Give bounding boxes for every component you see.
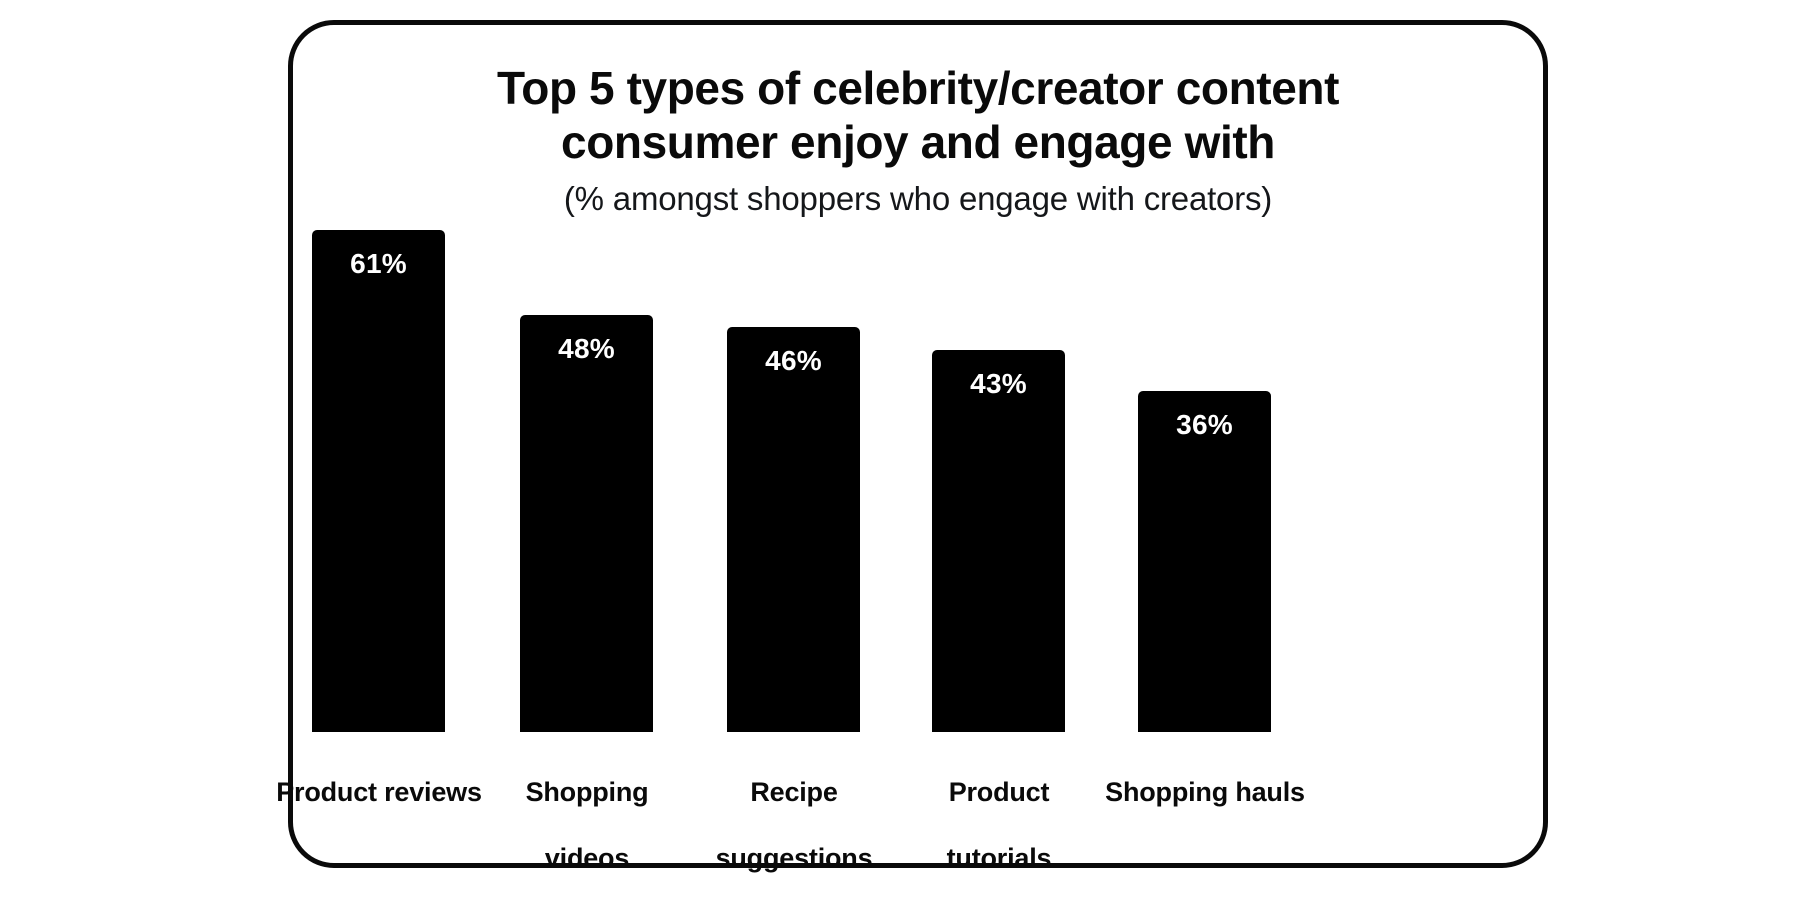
- chart-title-line-2: consumer enjoy and engage with: [398, 115, 1438, 169]
- category-label-line-1: Shopping: [477, 776, 697, 809]
- page-title: Top 5 types of celebrity/creator content…: [398, 61, 1438, 170]
- bar-shopping-hauls: 36%: [1138, 391, 1271, 732]
- category-label-line-1: Shopping hauls: [1095, 776, 1315, 809]
- category-label-product-reviews: Product reviews: [269, 743, 489, 842]
- bar-chart-plot-area: 61% 48% 46% 43%: [312, 230, 1534, 732]
- category-label-line-1: Product: [889, 776, 1109, 809]
- chart-subtitle: (% amongst shoppers who engage with crea…: [293, 178, 1543, 219]
- bar-value-label: 36%: [1138, 409, 1271, 441]
- bar-group: 43%: [932, 350, 1065, 732]
- bar-value-label: 48%: [520, 333, 653, 365]
- bar-value-label: 61%: [312, 248, 445, 280]
- category-label-shopping-hauls: Shopping hauls: [1095, 743, 1315, 842]
- category-label-recipe-suggestions: Recipe suggestions: [684, 743, 904, 908]
- bar-group: 36%: [1138, 391, 1271, 732]
- bar-shopping-videos: 48%: [520, 315, 653, 732]
- bar-value-label: 46%: [727, 345, 860, 377]
- category-label-line-2: suggestions: [684, 842, 904, 875]
- bar-value-label: 43%: [932, 368, 1065, 400]
- bar-product-tutorials: 43%: [932, 350, 1065, 732]
- category-label-line-2: videos: [477, 842, 697, 875]
- category-label-line-2: tutorials: [889, 842, 1109, 875]
- bar-group: 48%: [520, 315, 653, 732]
- title-block: Top 5 types of celebrity/creator content…: [293, 61, 1543, 219]
- bar-product-reviews: 61%: [312, 230, 445, 732]
- screenshot-root: Top 5 types of celebrity/creator content…: [0, 0, 1800, 900]
- bar-group: 61%: [312, 230, 445, 732]
- category-label-line-1: Product reviews: [269, 776, 489, 809]
- category-label-product-tutorials: Product tutorials: [889, 743, 1109, 908]
- bar-group: 46%: [727, 327, 860, 732]
- category-label-shopping-videos: Shopping videos: [477, 743, 697, 908]
- chart-card: Top 5 types of celebrity/creator content…: [288, 20, 1548, 868]
- category-axis-labels: Product reviews Shopping videos Recipe s…: [312, 743, 1534, 853]
- category-label-line-1: Recipe: [684, 776, 904, 809]
- chart-title-line-1: Top 5 types of celebrity/creator content: [398, 61, 1438, 115]
- bar-recipe-suggestions: 46%: [727, 327, 860, 732]
